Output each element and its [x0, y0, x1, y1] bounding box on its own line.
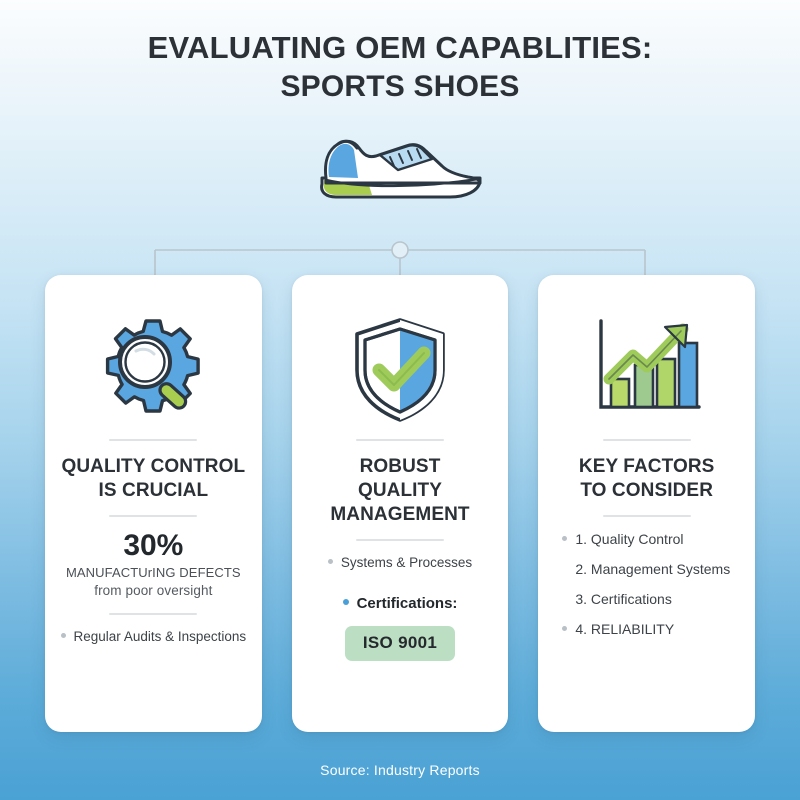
card-title-line-2: QUALITY	[358, 479, 442, 503]
gear-magnifier-icon	[94, 301, 212, 433]
list-item[interactable]: 3. Certifications	[562, 589, 741, 610]
stat-subcaption: from poor oversight	[94, 582, 212, 601]
list-item-label: 2. Management Systems	[575, 559, 730, 580]
stat-value: 30%	[123, 529, 183, 562]
card-title-line-2: TO CONSIDER	[580, 479, 713, 503]
list-item[interactable]: 4. RELIABILITY	[562, 619, 741, 640]
shield-check-icon	[348, 307, 452, 433]
page-title-line-2: SPORTS SHOES	[0, 68, 800, 106]
bullet-dot-icon	[328, 559, 333, 564]
list-item-certifications[interactable]: Certifications:	[343, 593, 458, 616]
card-title-line-1: KEY FACTORS	[579, 455, 715, 479]
bullet-dot-icon	[343, 599, 349, 605]
list-item-label: Certifications:	[357, 593, 458, 616]
card-title-line-3: MANAGEMENT	[330, 503, 469, 527]
header: EVALUATING OEM CAPABLITIES: SPORTS SHOES	[0, 0, 800, 106]
divider-mid	[603, 515, 691, 517]
bullet-dot-icon	[562, 536, 567, 541]
list-item-label: Regular Audits & Inspections	[74, 627, 247, 647]
divider-top	[109, 439, 197, 441]
divider-mid	[109, 515, 197, 517]
bullet-dot-icon	[562, 596, 567, 601]
bullet-dot-icon	[61, 633, 66, 638]
card-key-factors[interactable]: KEY FACTORS TO CONSIDER 1. Quality Contr…	[538, 275, 755, 732]
list-item[interactable]: Regular Audits & Inspections	[61, 627, 247, 647]
source-note: Source: Industry Reports	[0, 762, 800, 778]
bar-chart-growth-icon	[587, 301, 707, 433]
card-row: QUALITY CONTROL IS CRUCIAL 30% MANUFACTU…	[45, 275, 755, 732]
card-title-line-1: QUALITY CONTROL	[61, 455, 245, 479]
status-badge-iso: ISO 9001	[345, 626, 455, 661]
list-item[interactable]: 2. Management Systems	[562, 559, 741, 580]
divider-top	[356, 439, 444, 441]
divider-mid	[356, 539, 444, 541]
card-quality-control[interactable]: QUALITY CONTROL IS CRUCIAL 30% MANUFACTU…	[45, 275, 262, 732]
bullet-dot-icon	[562, 626, 567, 631]
page-title-line-1: EVALUATING OEM CAPABLITIES:	[0, 28, 800, 68]
divider-bottom	[109, 613, 197, 615]
bullet-dot-icon	[562, 566, 567, 571]
card-quality-management[interactable]: ROBUST QUALITY MANAGEMENT Systems & Proc…	[292, 275, 509, 732]
divider-top	[603, 439, 691, 441]
card-title-line-1: ROBUST	[360, 455, 441, 479]
sports-shoe-illustration	[310, 122, 490, 208]
list-item-label: 1. Quality Control	[575, 529, 683, 550]
key-factors-list: 1. Quality Control 2. Management Systems…	[552, 529, 741, 640]
list-item[interactable]: 1. Quality Control	[562, 529, 741, 550]
stat-caption: MANUFACTUrING DEFECTS	[66, 564, 241, 582]
card-title-line-2: IS CRUCIAL	[98, 479, 208, 503]
list-item-label: Systems & Processes	[341, 553, 472, 573]
list-item[interactable]: Systems & Processes	[328, 553, 472, 573]
list-item-label: 4. RELIABILITY	[575, 619, 674, 640]
connector-node	[392, 242, 408, 258]
list-item-label: 3. Certifications	[575, 589, 671, 610]
